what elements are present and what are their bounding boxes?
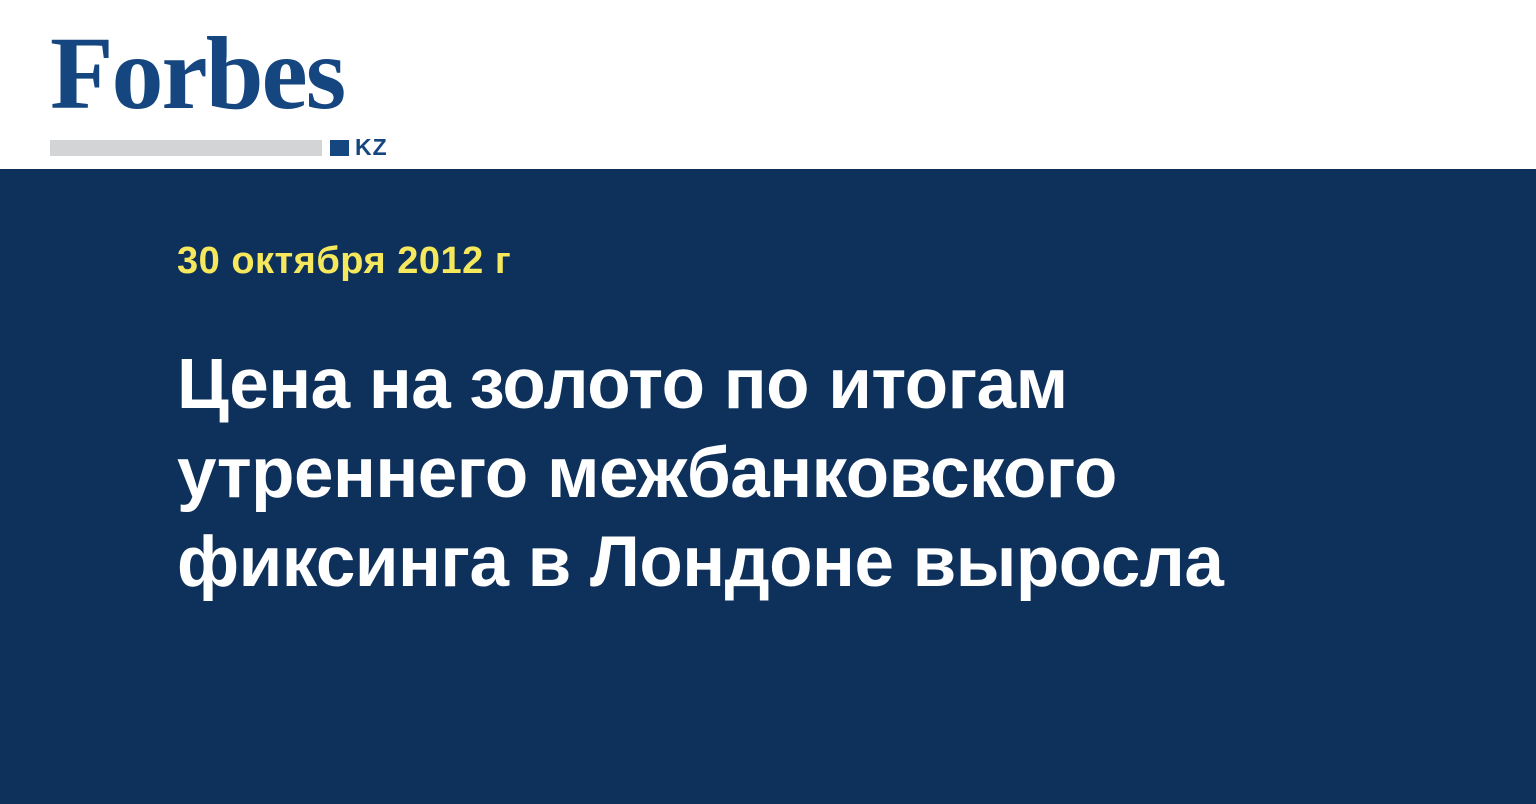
logo-rule [50,140,322,156]
logo-underline: KZ [50,140,402,156]
article-date: 30 октября 2012 г [177,239,1317,283]
hero-content: 30 октября 2012 г Цена на золото по итог… [177,239,1317,607]
article-card: Forbes KZ 30 октября 2012 г Цена на золо… [0,0,1536,804]
forbes-wordmark: Forbes [50,22,410,126]
headline-line: фиксинга в Лондоне выросла [177,518,1317,607]
logo-kz-suffix: KZ [355,137,388,158]
forbes-kz-logo[interactable]: Forbes KZ [50,22,410,147]
headline-line: утреннего межбанковского [177,429,1317,518]
article-headline: Цена на золото по итогам утреннего межба… [177,283,1317,607]
site-header: Forbes KZ [0,0,1536,169]
logo-square-icon [330,140,349,156]
article-hero: 30 октября 2012 г Цена на золото по итог… [0,169,1536,804]
headline-line: Цена на золото по итогам [177,340,1317,429]
